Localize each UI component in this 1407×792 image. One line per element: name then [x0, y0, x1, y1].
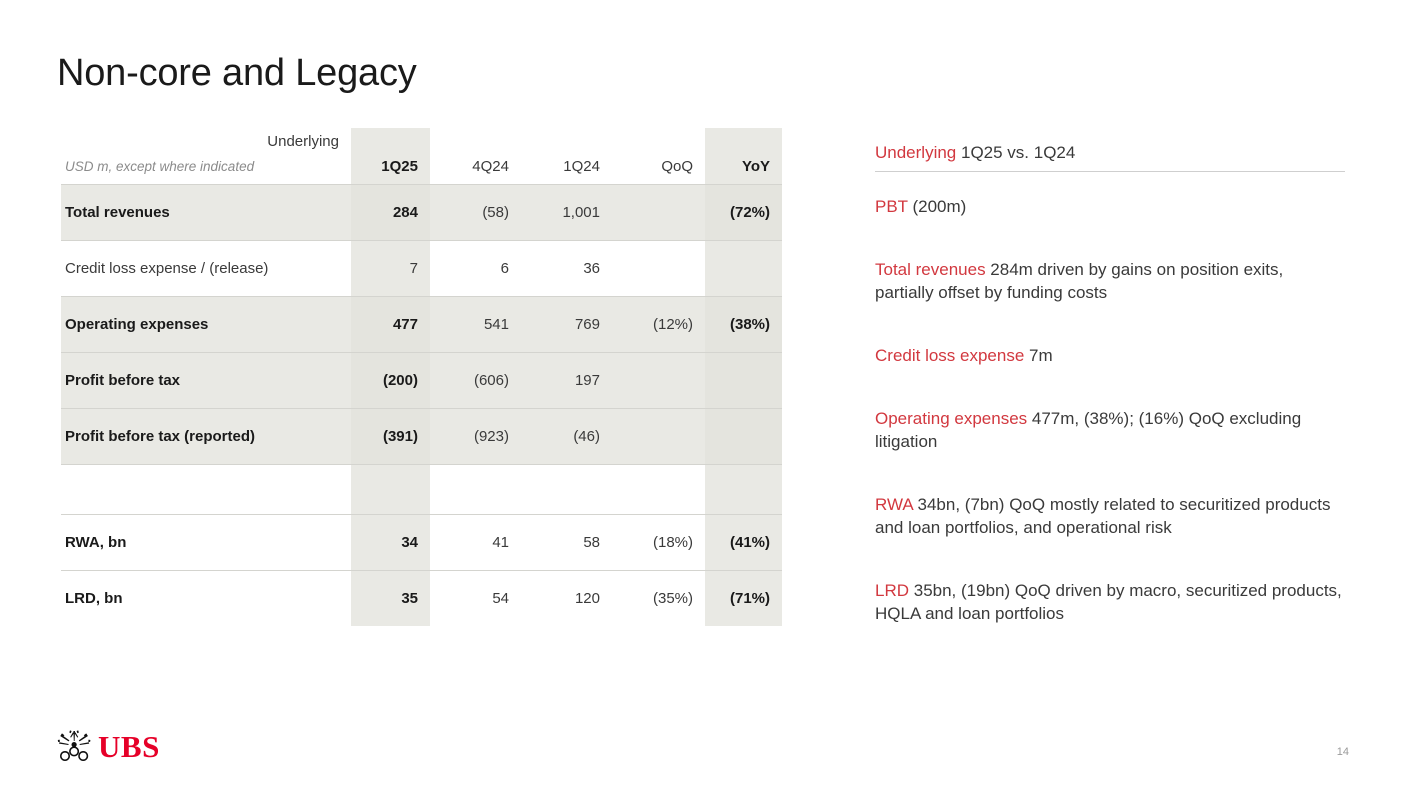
header-spacer-4q24 — [430, 128, 521, 154]
row-value-cell — [705, 240, 782, 296]
commentary-item-text: 35bn, (19bn) QoQ driven by macro, securi… — [875, 581, 1342, 623]
financials-table: Underlying USD m, except where indicated… — [61, 128, 782, 626]
financial-table-block: Underlying USD m, except where indicated… — [61, 128, 782, 626]
table-body: Total revenues284(58)1,001(72%)Credit lo… — [61, 184, 782, 626]
row-value-cell: 7 — [351, 240, 430, 296]
page-number: 14 — [1337, 746, 1349, 758]
row-value-cell: (46) — [521, 408, 612, 464]
commentary-item-accent: PBT — [875, 197, 908, 216]
commentary-item-accent: RWA — [875, 495, 913, 514]
row-label: Profit before tax (reported) — [61, 408, 351, 464]
row-value-cell — [612, 352, 705, 408]
row-value-cell: 1,001 — [521, 184, 612, 240]
row-value-cell: (391) — [351, 408, 430, 464]
spacer-value-cell — [521, 464, 612, 514]
row-label: Total revenues — [61, 184, 351, 240]
table-column-header-row: USD m, except where indicated 1Q25 4Q24 … — [61, 154, 782, 184]
column-header-4q24: 4Q24 — [430, 154, 521, 184]
commentary-panel: Underlying 1Q25 vs. 1Q24 PBT (200m)Total… — [875, 142, 1345, 625]
header-spacer-1q25 — [351, 128, 430, 154]
row-value-cell: (71%) — [705, 570, 782, 626]
commentary-item: PBT (200m) — [875, 196, 1345, 219]
commentary-heading-accent: Underlying — [875, 143, 956, 162]
row-value-cell: (58) — [430, 184, 521, 240]
row-value-cell: 58 — [521, 514, 612, 570]
commentary-heading: Underlying 1Q25 vs. 1Q24 — [875, 142, 1345, 172]
commentary-item-accent: Credit loss expense — [875, 346, 1024, 365]
commentary-item-accent: LRD — [875, 581, 909, 600]
row-value-cell — [612, 240, 705, 296]
row-label: Profit before tax — [61, 352, 351, 408]
row-value-cell: (72%) — [705, 184, 782, 240]
commentary-items: PBT (200m)Total revenues 284m driven by … — [875, 196, 1345, 625]
row-label: Credit loss expense / (release) — [61, 240, 351, 296]
row-value-cell: 197 — [521, 352, 612, 408]
row-value-cell: (38%) — [705, 296, 782, 352]
column-header-qoq: QoQ — [612, 154, 705, 184]
commentary-item: Credit loss expense 7m — [875, 345, 1345, 368]
spacer-value-cell — [612, 464, 705, 514]
row-label: RWA, bn — [61, 514, 351, 570]
header-spacer-yoy — [705, 128, 782, 154]
commentary-item: Operating expenses 477m, (38%); (16%) Qo… — [875, 408, 1345, 454]
table-row: RWA, bn344158(18%)(41%) — [61, 514, 782, 570]
row-value-cell: 477 — [351, 296, 430, 352]
table-header: Underlying USD m, except where indicated… — [61, 128, 782, 184]
row-value-cell: 35 — [351, 570, 430, 626]
row-value-cell: (923) — [430, 408, 521, 464]
column-header-1q25: 1Q25 — [351, 154, 430, 184]
ubs-logo: UBS — [57, 730, 160, 762]
row-value-cell: (41%) — [705, 514, 782, 570]
row-value-cell: 6 — [430, 240, 521, 296]
commentary-item-text: 7m — [1024, 346, 1052, 365]
commentary-item-text: (200m) — [908, 197, 967, 216]
row-value-cell: (12%) — [612, 296, 705, 352]
row-label: LRD, bn — [61, 570, 351, 626]
page-title: Non-core and Legacy — [57, 52, 417, 95]
header-spacer-qoq — [612, 128, 705, 154]
table-row: Operating expenses477541769(12%)(38%) — [61, 296, 782, 352]
table-row: Credit loss expense / (release)7636 — [61, 240, 782, 296]
row-value-cell: (606) — [430, 352, 521, 408]
row-value-cell: 769 — [521, 296, 612, 352]
commentary-item: LRD 35bn, (19bn) QoQ driven by macro, se… — [875, 580, 1345, 626]
column-header-1q24: 1Q24 — [521, 154, 612, 184]
row-value-cell: 34 — [351, 514, 430, 570]
spacer-label-cell — [61, 464, 351, 514]
spacer-value-cell — [351, 464, 430, 514]
row-label: Operating expenses — [61, 296, 351, 352]
header-spacer-1q24 — [521, 128, 612, 154]
row-value-cell: 120 — [521, 570, 612, 626]
row-value-cell: 54 — [430, 570, 521, 626]
row-value-cell: (35%) — [612, 570, 705, 626]
commentary-item-accent: Operating expenses — [875, 409, 1027, 428]
table-spacer-row — [61, 464, 782, 514]
commentary-heading-rest: 1Q25 vs. 1Q24 — [956, 143, 1075, 162]
row-value-cell: 41 — [430, 514, 521, 570]
row-value-cell: (200) — [351, 352, 430, 408]
ubs-wordmark: UBS — [98, 731, 160, 762]
table-row: Total revenues284(58)1,001(72%) — [61, 184, 782, 240]
spacer-value-cell — [705, 464, 782, 514]
table-section-title-row: Underlying — [61, 128, 782, 154]
row-value-cell — [705, 352, 782, 408]
spacer-value-cell — [430, 464, 521, 514]
row-value-cell — [705, 408, 782, 464]
column-header-yoy: YoY — [705, 154, 782, 184]
table-row: Profit before tax(200)(606)197 — [61, 352, 782, 408]
commentary-item-text: 34bn, (7bn) QoQ mostly related to securi… — [875, 495, 1330, 537]
row-value-cell: 541 — [430, 296, 521, 352]
table-row: LRD, bn3554120(35%)(71%) — [61, 570, 782, 626]
row-value-cell: (18%) — [612, 514, 705, 570]
table-section-title: Underlying — [61, 128, 351, 154]
commentary-item: Total revenues 284m driven by gains on p… — [875, 259, 1345, 305]
ubs-keys-icon — [57, 730, 91, 762]
row-value-cell — [612, 408, 705, 464]
commentary-item-accent: Total revenues — [875, 260, 986, 279]
row-value-cell — [612, 184, 705, 240]
table-unit-note: USD m, except where indicated — [61, 154, 351, 184]
table-row: Profit before tax (reported)(391)(923)(4… — [61, 408, 782, 464]
row-value-cell: 36 — [521, 240, 612, 296]
row-value-cell: 284 — [351, 184, 430, 240]
commentary-item: RWA 34bn, (7bn) QoQ mostly related to se… — [875, 494, 1345, 540]
